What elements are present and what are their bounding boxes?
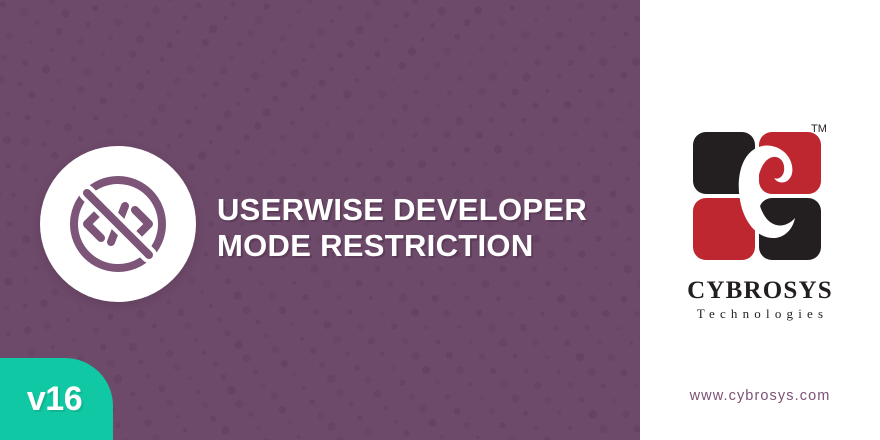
cybrosys-logo-mark: TM	[687, 118, 833, 268]
brand-tagline: Technologies	[692, 306, 829, 322]
version-label: v16	[27, 382, 86, 416]
page-title: USERWISE DEVELOPER MODE RESTRICTION	[217, 192, 617, 264]
right-white-panel: TM CYBROSYS Technologies www.cybrosys.co…	[640, 0, 880, 440]
promo-banner: USERWISE DEVELOPER MODE RESTRICTION v16 …	[0, 0, 880, 440]
cybrosys-logo-icon: TM	[687, 118, 833, 268]
title-line-2: MODE RESTRICTION	[217, 228, 617, 264]
brand-logo-block: TM CYBROSYS Technologies	[640, 118, 880, 322]
left-purple-panel: USERWISE DEVELOPER MODE RESTRICTION v16	[0, 0, 640, 440]
version-badge: v16	[0, 358, 113, 440]
no-developer-mode-icon	[64, 170, 172, 278]
website-url[interactable]: www.cybrosys.com	[640, 388, 880, 404]
trademark-symbol: TM	[811, 123, 827, 135]
brand-name: CYBROSYS	[687, 277, 833, 304]
no-developer-mode-badge	[40, 146, 196, 302]
title-line-1: USERWISE DEVELOPER	[217, 192, 617, 228]
